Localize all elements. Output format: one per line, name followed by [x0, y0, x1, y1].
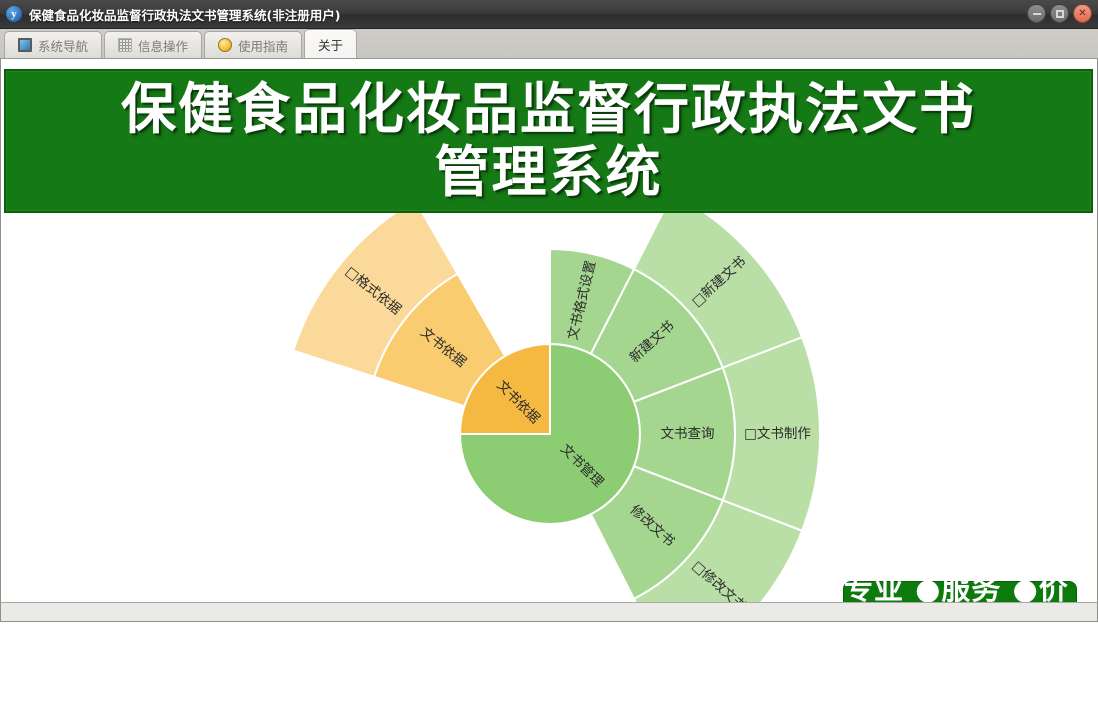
- banner-line-1: 保健食品化妆品监督行政执法文书: [121, 78, 976, 141]
- maximize-button[interactable]: [1050, 4, 1069, 23]
- window-controls: ✕: [1027, 4, 1092, 23]
- application-window: y 保健食品化妆品监督行政执法文书管理系统(非注册用户) ✕ 系统导航 信息操作…: [0, 0, 1098, 622]
- about-panel: 文书管理文书格式设置新建文书□新建文书文书查询□文书制作修改文书□修改文书文书依…: [0, 59, 1098, 602]
- close-button[interactable]: ✕: [1073, 4, 1092, 23]
- slogan-badge: 专业 ●服务 ●价值: [843, 581, 1077, 602]
- tab-information-operations[interactable]: 信息操作: [104, 31, 202, 58]
- tab-strip: 系统导航 信息操作 使用指南 关于: [0, 29, 1098, 59]
- tab-label: 系统导航: [38, 36, 88, 55]
- banner-line-2: 管理系统: [121, 141, 976, 204]
- window-title: 保健食品化妆品监督行政执法文书管理系统(非注册用户): [29, 5, 340, 24]
- tab-label: 信息操作: [138, 36, 188, 55]
- status-bar: [0, 602, 1098, 622]
- sunburst-segment-label: 文书查询: [661, 426, 715, 442]
- coin-icon: [218, 38, 232, 52]
- monitor-icon: [18, 38, 32, 52]
- title-banner: 保健食品化妆品监督行政执法文书 管理系统: [4, 69, 1093, 213]
- close-icon: ✕: [1078, 9, 1086, 19]
- tab-label: 关于: [318, 35, 343, 54]
- tab-label: 使用指南: [238, 36, 288, 55]
- app-logo-icon: y: [6, 6, 22, 22]
- sunburst-segment-label: □文书制作: [744, 426, 811, 442]
- tab-user-guide[interactable]: 使用指南: [204, 31, 302, 58]
- grid-icon: [118, 38, 132, 52]
- title-bar: y 保健食品化妆品监督行政执法文书管理系统(非注册用户) ✕: [0, 0, 1098, 29]
- banner-heading: 保健食品化妆品监督行政执法文书 管理系统: [121, 78, 976, 203]
- tab-system-navigation[interactable]: 系统导航: [4, 31, 102, 58]
- minimize-button[interactable]: [1027, 4, 1046, 23]
- desktop-background: [0, 622, 1098, 719]
- tab-about[interactable]: 关于: [304, 29, 357, 58]
